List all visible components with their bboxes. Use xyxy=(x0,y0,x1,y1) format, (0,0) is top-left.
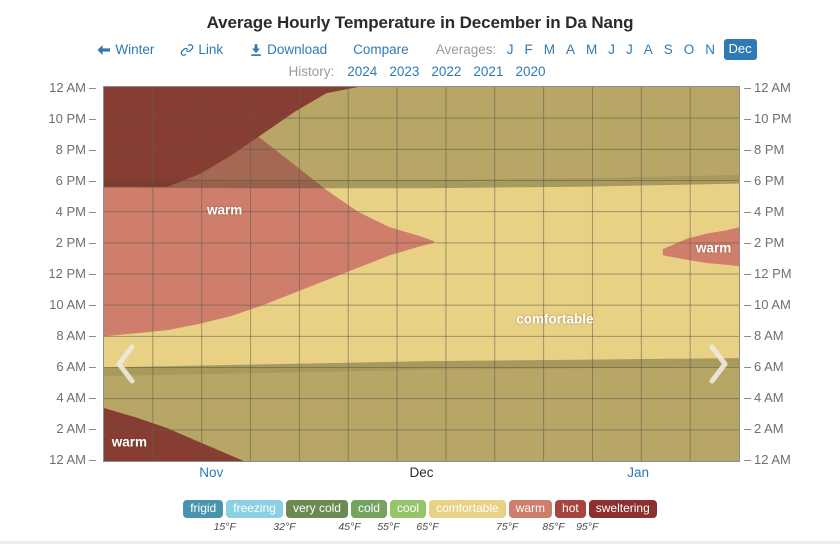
y-axis-tick-mark xyxy=(744,336,751,337)
y-axis-tick-mark xyxy=(744,150,751,151)
y-axis-tick: 2 AM xyxy=(754,422,784,435)
y-axis-tick-mark xyxy=(744,460,751,461)
y-axis-tick-mark xyxy=(744,367,751,368)
y-axis-tick-mark xyxy=(89,243,96,244)
y-axis-right: 12 AM10 PM8 PM6 PM4 PM2 PM12 PM10 AM8 AM… xyxy=(744,86,840,462)
legend-item-cold[interactable]: cold xyxy=(351,500,387,518)
legend-item-hot[interactable]: hot xyxy=(555,500,586,518)
month-jan[interactable]: J xyxy=(501,41,519,59)
arrow-left-icon xyxy=(96,44,111,56)
history-year-2022[interactable]: 2022 xyxy=(425,64,467,79)
link-icon xyxy=(180,43,194,57)
y-axis-tick: 8 PM xyxy=(754,143,784,156)
month-aug[interactable]: A xyxy=(638,41,658,59)
y-axis-tick-mark xyxy=(89,336,96,337)
y-axis-tick: 4 AM xyxy=(56,391,86,404)
y-axis-tick: 12 PM xyxy=(754,267,792,280)
legend-item-sweltering[interactable]: sweltering xyxy=(589,500,657,518)
month-dec-active[interactable]: Dec xyxy=(724,39,757,60)
y-axis-tick: 6 AM xyxy=(56,360,86,373)
legend-scale-value: 95°F xyxy=(576,521,598,533)
legend-scale-value: 32°F xyxy=(273,521,295,533)
legend-scale-value: 15°F xyxy=(214,521,236,533)
download-label: Download xyxy=(267,41,327,59)
month-apr[interactable]: A xyxy=(560,41,580,59)
back-winter-button[interactable]: Winter xyxy=(83,41,167,59)
history-year-2020[interactable]: 2020 xyxy=(509,64,551,79)
y-axis-tick: 2 PM xyxy=(754,236,784,249)
chart-gridlines xyxy=(104,87,739,461)
month-nov[interactable]: N xyxy=(700,41,721,59)
y-axis-tick-mark xyxy=(89,367,96,368)
y-axis-tick-mark xyxy=(89,305,96,306)
y-axis-tick: 8 AM xyxy=(754,329,784,342)
y-axis-tick-mark xyxy=(89,212,96,213)
y-axis-tick: 12 AM xyxy=(754,453,791,466)
y-axis-tick-mark xyxy=(89,88,96,89)
download-button[interactable]: Download xyxy=(236,41,340,59)
history-label: History: xyxy=(289,64,342,79)
legend-scale-value: 85°F xyxy=(542,521,564,533)
y-axis-tick: 4 AM xyxy=(754,391,784,404)
legend-scale-value: 45°F xyxy=(338,521,360,533)
compare-button[interactable]: Compare xyxy=(340,41,422,59)
x-axis-tick-nov[interactable]: Nov xyxy=(199,465,223,480)
y-axis-tick: 6 PM xyxy=(56,174,86,187)
temperature-legend: frigidfreezingvery coldcoldcoolcomfortab… xyxy=(0,500,840,537)
legend-item-comfortable[interactable]: comfortable xyxy=(429,500,506,518)
month-sep[interactable]: S xyxy=(658,41,678,59)
month-may[interactable]: M xyxy=(581,41,603,59)
link-label: Link xyxy=(198,41,223,59)
y-axis-tick-mark xyxy=(744,181,751,182)
y-axis-tick-mark xyxy=(89,181,96,182)
y-axis-tick: 12 AM xyxy=(49,81,86,94)
next-month-arrow[interactable] xyxy=(706,342,732,386)
legend-scale-row: 15°F32°F45°F55°F65°F75°F85°F95°F xyxy=(0,521,840,537)
link-button[interactable]: Link xyxy=(167,41,236,59)
back-winter-label: Winter xyxy=(115,41,154,59)
page-title: Average Hourly Temperature in December i… xyxy=(0,0,840,33)
history-year-2024[interactable]: 2024 xyxy=(341,64,383,79)
y-axis-tick: 4 PM xyxy=(56,205,86,218)
y-axis-tick: 6 AM xyxy=(754,360,784,373)
month-selector: J F M A M J J A S O N Dec xyxy=(501,39,756,60)
legend-item-cool[interactable]: cool xyxy=(390,500,426,518)
x-axis: NovDecJan xyxy=(103,464,740,484)
y-axis-tick-mark xyxy=(89,274,96,275)
legend-item-warm[interactable]: warm xyxy=(509,500,552,518)
averages-label: Averages: xyxy=(422,41,502,59)
y-axis-tick: 2 PM xyxy=(56,236,86,249)
legend-item-freezing[interactable]: freezing xyxy=(226,500,283,518)
y-axis-tick-mark xyxy=(89,119,96,120)
download-icon xyxy=(249,43,263,57)
y-axis-tick-mark xyxy=(744,243,751,244)
y-axis-tick: 12 AM xyxy=(754,81,791,94)
y-axis-tick: 6 PM xyxy=(754,174,784,187)
y-axis-tick-mark xyxy=(89,429,96,430)
legend-scale-value: 55°F xyxy=(377,521,399,533)
month-jul[interactable]: J xyxy=(621,41,639,59)
y-axis-tick: 4 PM xyxy=(754,205,784,218)
y-axis-tick-mark xyxy=(89,460,96,461)
y-axis-tick-mark xyxy=(744,88,751,89)
chart-area: 12 AM10 PM8 PM6 PM4 PM2 PM12 PM10 AM8 AM… xyxy=(0,84,840,482)
y-axis-tick-mark xyxy=(744,212,751,213)
y-axis-tick-mark xyxy=(744,274,751,275)
month-oct[interactable]: O xyxy=(678,41,700,59)
month-mar[interactable]: M xyxy=(538,41,560,59)
y-axis-tick-mark xyxy=(744,398,751,399)
y-axis-tick-mark xyxy=(89,398,96,399)
legend-scale-value: 65°F xyxy=(416,521,438,533)
month-jun[interactable]: J xyxy=(603,41,621,59)
month-feb[interactable]: F xyxy=(519,41,538,59)
history-row: History: 2024 2023 2022 2021 2020 xyxy=(0,64,840,79)
x-axis-tick-dec: Dec xyxy=(409,465,433,480)
weather-chart-page: Average Hourly Temperature in December i… xyxy=(0,0,840,544)
y-axis-left: 12 AM10 PM8 PM6 PM4 PM2 PM12 PM10 AM8 AM… xyxy=(0,86,96,462)
x-axis-tick-jan[interactable]: Jan xyxy=(627,465,649,480)
chart-toolbar: Winter Link Download Compare Averages: J… xyxy=(0,39,840,60)
y-axis-tick-mark xyxy=(744,305,751,306)
y-axis-tick-mark xyxy=(89,150,96,151)
y-axis-tick-mark xyxy=(744,119,751,120)
y-axis-tick: 12 AM xyxy=(49,453,86,466)
previous-month-arrow[interactable] xyxy=(112,342,138,386)
y-axis-tick: 2 AM xyxy=(56,422,86,435)
y-axis-tick: 10 PM xyxy=(754,112,792,125)
y-axis-tick: 10 PM xyxy=(48,112,86,125)
legend-scale-value: 75°F xyxy=(496,521,518,533)
temperature-heatmap-plot[interactable]: warmcomfortablewarmwarm xyxy=(103,86,740,462)
legend-band-row: frigidfreezingvery coldcoldcoolcomfortab… xyxy=(0,500,840,518)
y-axis-tick: 12 PM xyxy=(48,267,86,280)
y-axis-tick-mark xyxy=(744,429,751,430)
y-axis-tick: 8 AM xyxy=(56,329,86,342)
history-year-2021[interactable]: 2021 xyxy=(467,64,509,79)
y-axis-tick: 10 AM xyxy=(49,298,86,311)
y-axis-tick: 10 AM xyxy=(754,298,791,311)
legend-item-very-cold[interactable]: very cold xyxy=(286,500,348,518)
legend-item-frigid[interactable]: frigid xyxy=(183,500,223,518)
y-axis-tick: 8 PM xyxy=(56,143,86,156)
history-year-2023[interactable]: 2023 xyxy=(383,64,425,79)
compare-label: Compare xyxy=(353,41,409,59)
